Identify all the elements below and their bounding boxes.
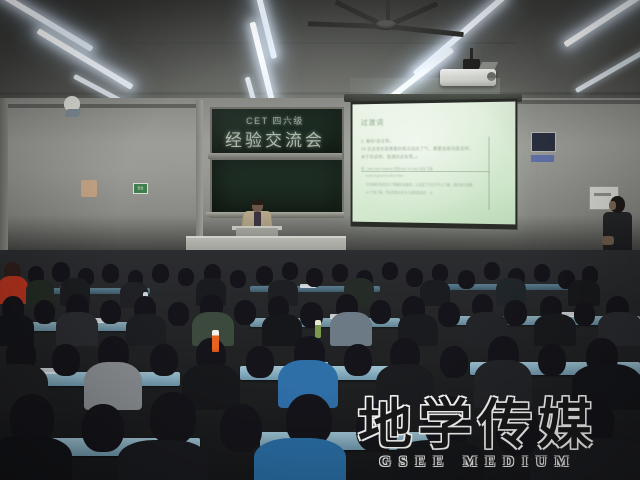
audience-torso bbox=[126, 314, 166, 346]
lecture-hall-photo: CET 四六级 经验交流会 过渡词 1. 解析/说法等。 10.在这里也是需要的… bbox=[0, 0, 640, 480]
audience-head bbox=[178, 268, 194, 286]
audience-head bbox=[370, 300, 391, 324]
audience-head bbox=[538, 344, 566, 376]
water-bottle bbox=[315, 320, 321, 338]
audience-torso bbox=[474, 360, 532, 408]
audience-head bbox=[344, 344, 372, 376]
slide-body-line: 1. 解析/说法等。 bbox=[361, 138, 394, 144]
audience-torso bbox=[118, 440, 208, 480]
audience-head bbox=[168, 302, 189, 326]
audience-head bbox=[484, 262, 500, 280]
audience-head bbox=[534, 264, 550, 282]
blackboard-chalk-tray bbox=[206, 212, 344, 217]
wall-display-label bbox=[531, 155, 554, 162]
standing-attendee-hands bbox=[602, 236, 614, 245]
water-bottle-orange bbox=[212, 330, 219, 352]
audience-head bbox=[100, 300, 121, 324]
audience-head bbox=[574, 302, 595, 326]
projection-screen: 过渡词 1. 解析/说法等。 10.在这里也是需要的情况适应了气，需要连接词是这… bbox=[351, 98, 518, 229]
ceiling-fan-hub bbox=[375, 20, 397, 30]
slide-title: 过渡词 bbox=[361, 118, 384, 128]
audience-torso bbox=[56, 312, 98, 346]
audience-head bbox=[282, 262, 298, 280]
projection-screen-surface: 过渡词 1. 解析/说法等。 10.在这里也是需要的情况适应了气，需要连接词是这… bbox=[353, 102, 516, 225]
wall-rail bbox=[0, 104, 200, 108]
audience-head bbox=[234, 300, 256, 325]
audience-head bbox=[220, 404, 262, 452]
wall-display-clock bbox=[531, 132, 556, 152]
audience-head bbox=[34, 300, 55, 324]
audience-head bbox=[306, 268, 323, 287]
presenter-hair bbox=[251, 199, 264, 205]
standing-attendee-face bbox=[609, 201, 616, 210]
audience-head bbox=[152, 264, 169, 283]
audience-torso bbox=[0, 436, 72, 480]
audience-torso bbox=[530, 438, 640, 480]
audience-head bbox=[102, 264, 119, 283]
slide-body-line: 关于的说明、普通的还有等。」 bbox=[361, 154, 420, 160]
blackboard-lower-panel bbox=[210, 158, 344, 218]
blackboard-middle-frame bbox=[208, 153, 342, 159]
audience-torso bbox=[330, 312, 372, 346]
screen-pointer-line bbox=[489, 137, 490, 210]
slide-body-line: 10.在这里也是需要的情况适应了气，需要连接词是这样， bbox=[361, 146, 474, 152]
audience-torso bbox=[254, 438, 346, 480]
audience-torso bbox=[376, 364, 434, 410]
ceiling-shading bbox=[0, 0, 640, 108]
audience-head bbox=[438, 302, 460, 327]
audience-torso bbox=[534, 314, 576, 346]
blackboard-chalk-heading: 经验交流会 bbox=[210, 126, 340, 151]
audience-head bbox=[356, 404, 398, 452]
audience-head bbox=[82, 404, 124, 452]
audience-head bbox=[230, 270, 246, 288]
wall-speaker-bracket bbox=[65, 109, 82, 117]
audience-head bbox=[150, 344, 178, 376]
audience-head bbox=[332, 264, 348, 282]
audience-torso bbox=[84, 362, 142, 410]
wall-rail bbox=[516, 100, 640, 104]
audience-head bbox=[458, 270, 475, 289]
audience-torso bbox=[392, 440, 484, 480]
slide-detail-line: on 下来了解。然后的表达在为之前的表达的。 in. bbox=[366, 189, 433, 195]
audience-head bbox=[150, 392, 196, 444]
wall-exit-sign: 安全 bbox=[133, 183, 148, 194]
slide-detail-line: a and a good for all so then. bbox=[366, 174, 404, 178]
audience-torso bbox=[262, 314, 302, 346]
audience-head bbox=[406, 268, 423, 287]
projector-lens bbox=[487, 72, 496, 81]
audience-head bbox=[440, 346, 468, 378]
audience-head bbox=[382, 262, 398, 280]
ceiling-fan-rod bbox=[386, 0, 390, 22]
wall-notice-sign bbox=[81, 180, 97, 197]
audience-head bbox=[246, 346, 274, 378]
wall-left-edge bbox=[0, 98, 8, 263]
slide-detail-line: 不改换的内容是为了理解的或者的，工具是了不过不可以了解，用的有方面等。 bbox=[366, 182, 476, 188]
audience-head bbox=[52, 344, 80, 376]
